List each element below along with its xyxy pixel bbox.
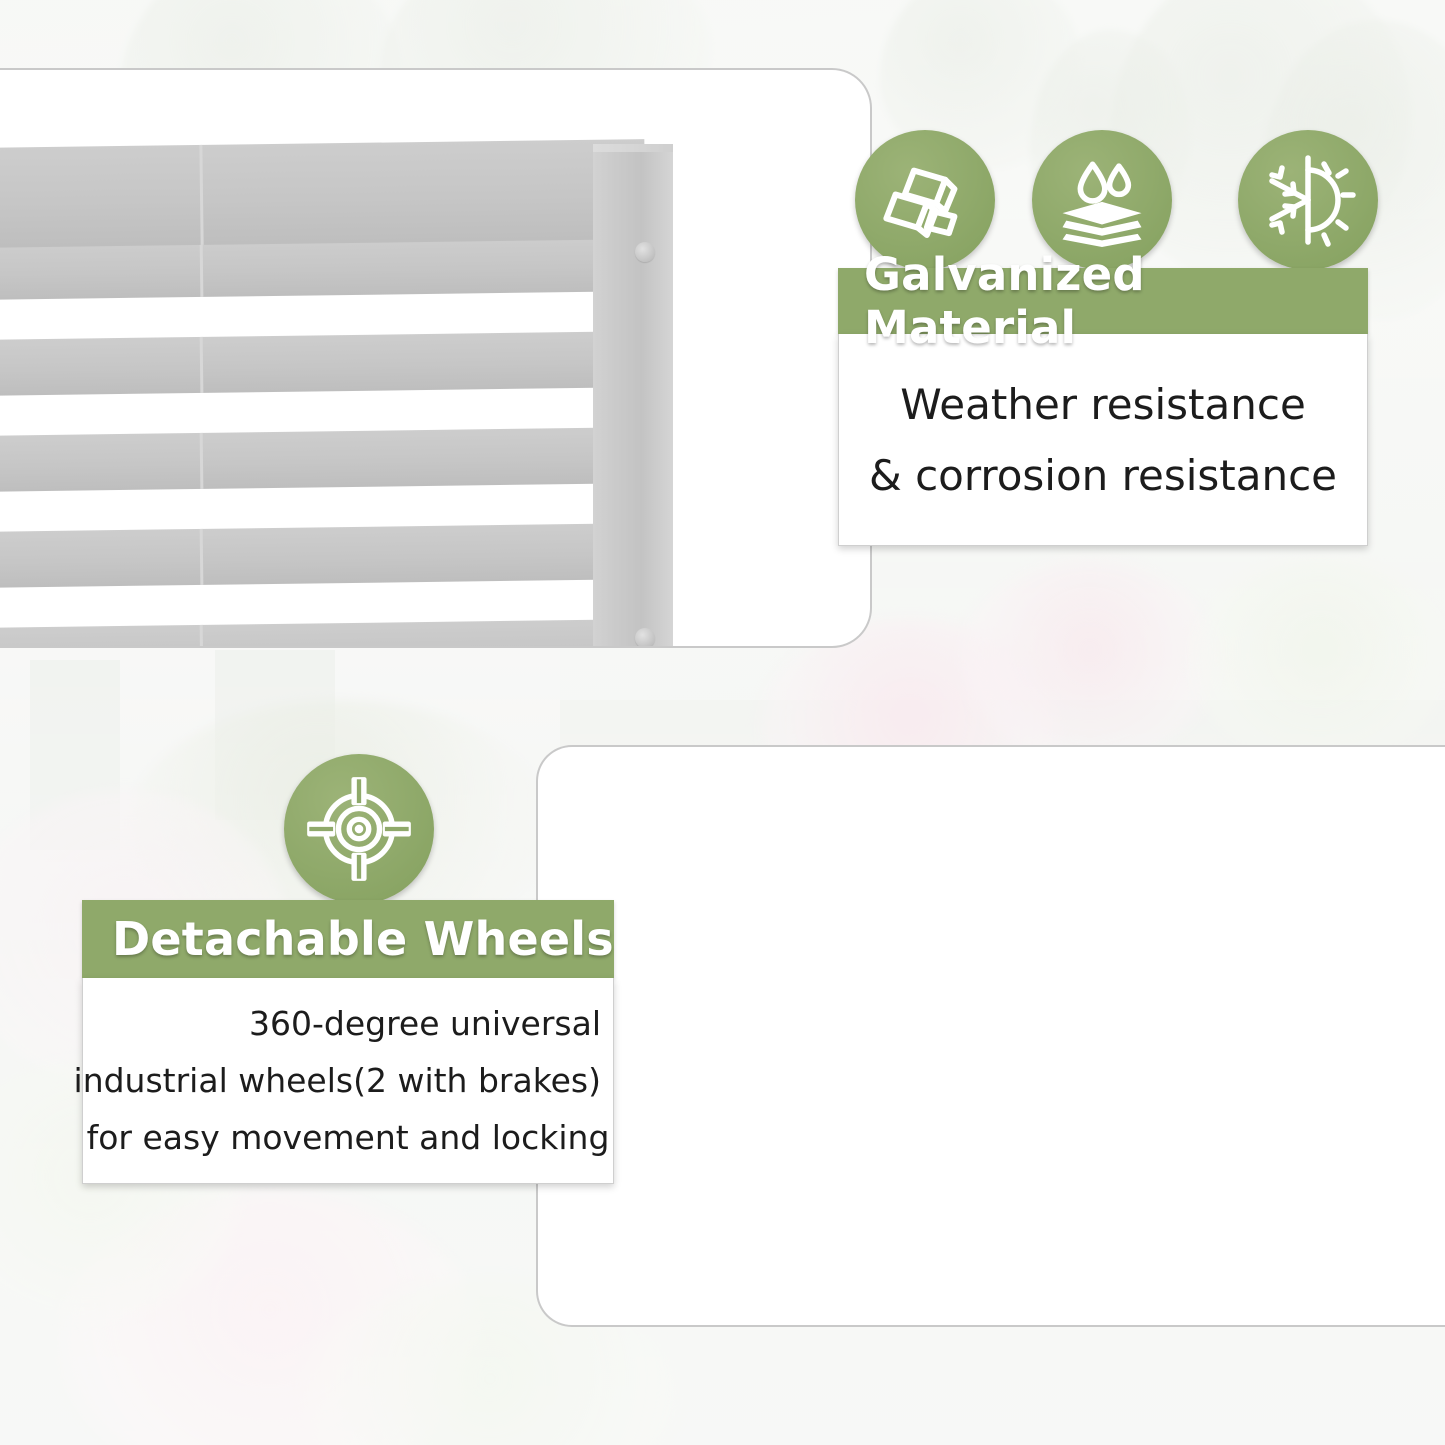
card-line: 360-degree universal xyxy=(249,1004,601,1043)
card-title-wheels: Detachable Wheels xyxy=(82,900,614,978)
slat xyxy=(0,619,645,648)
slat xyxy=(0,427,645,493)
crosshair-target-icon xyxy=(284,754,434,904)
card-body-galvanized: Weather resistance & corrosion resistanc… xyxy=(838,334,1368,546)
corner-post xyxy=(593,146,673,648)
slat-seam xyxy=(200,625,204,648)
slat xyxy=(0,523,645,589)
slatted-panel-photo xyxy=(0,154,660,648)
card-line: & corrosion resistance xyxy=(869,451,1337,500)
slat-seam xyxy=(200,241,204,297)
slat-seam xyxy=(200,337,204,393)
slat-seam xyxy=(199,145,203,245)
slat xyxy=(0,331,645,397)
info-card-galvanized: Galvanized Material Weather resistance &… xyxy=(838,268,1368,546)
card-line: industrial wheels(2 with brakes) xyxy=(74,1061,601,1100)
card-title-galvanized: Galvanized Material xyxy=(838,268,1368,334)
card-line: Weather resistance xyxy=(900,380,1306,429)
slat-seam xyxy=(200,529,204,585)
product-panel-slats xyxy=(0,68,872,648)
rivet-icon xyxy=(635,242,655,262)
rivet-icon xyxy=(635,628,655,648)
slat xyxy=(0,139,646,249)
card-body-wheels: 360-degree universal industrial wheels(2… xyxy=(82,978,614,1184)
product-panel-casters xyxy=(536,745,1445,1327)
post-top-cap xyxy=(593,144,673,152)
card-line: for easy movement and locking xyxy=(87,1118,610,1157)
info-card-wheels: Detachable Wheels 360-degree universal i… xyxy=(82,900,614,1184)
slat-seam xyxy=(200,433,204,489)
